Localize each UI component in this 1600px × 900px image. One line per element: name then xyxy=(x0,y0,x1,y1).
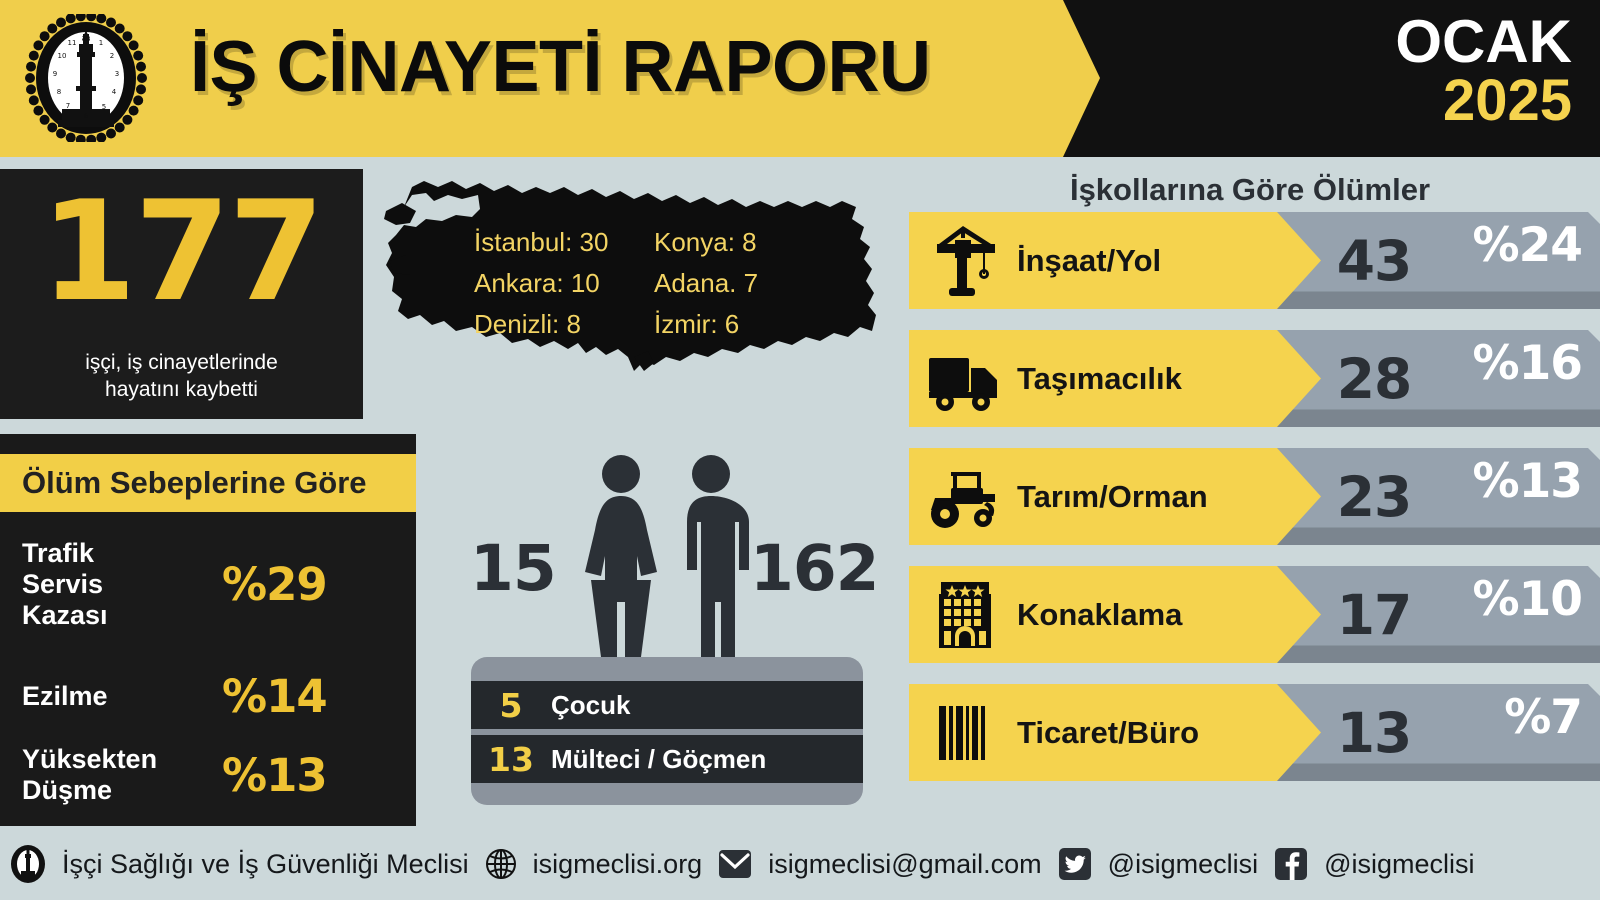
turkey-map-section: İstanbul: 30 Konya: 8 Ankara: 10 Adana. … xyxy=(382,165,882,380)
footer-facebook[interactable]: @isigmeclisi xyxy=(1272,845,1474,883)
sector-row: İnşaat/Yol 43 %24 xyxy=(909,212,1600,309)
svg-text:2: 2 xyxy=(110,52,114,60)
sub-stat-row: 13 Mülteci / Göçmen xyxy=(471,735,863,783)
svg-text:1: 1 xyxy=(99,39,103,47)
cause-label: Ezilme xyxy=(22,681,222,712)
sector-count: 23 xyxy=(1314,448,1434,545)
caption-line-1: işçi, iş cinayetlerinde xyxy=(85,351,278,374)
svg-text:12: 12 xyxy=(82,35,91,43)
city-death-list: İstanbul: 30 Konya: 8 Ankara: 10 Adana. … xyxy=(474,227,894,340)
cause-row: YüksektenDüşme %13 xyxy=(22,744,396,806)
sub-stat-label: Çocuk xyxy=(551,690,630,721)
sector-count: 28 xyxy=(1314,330,1434,427)
header-month: OCAK xyxy=(1395,12,1572,72)
footer-website[interactable]: isigmeclisi.org xyxy=(483,846,703,882)
hotel-icon xyxy=(925,576,1005,654)
sector-row: Taşımacılık 28 %16 xyxy=(909,330,1600,427)
footer-twitter[interactable]: @isigmeclisi xyxy=(1056,845,1258,883)
facebook-icon xyxy=(1272,845,1310,883)
svg-text:3: 3 xyxy=(115,70,119,78)
header: 121110 987 654 321 İŞ CİNAYETİ RAPORU OC… xyxy=(0,0,1600,157)
infographic-page: 121110 987 654 321 İŞ CİNAYETİ RAPORU OC… xyxy=(0,0,1600,900)
cause-label: YüksektenDüşme xyxy=(22,744,222,806)
barcode-icon xyxy=(925,694,1005,772)
sub-stat-label: Mülteci / Göçmen xyxy=(551,744,766,775)
sector-name: İnşaat/Yol xyxy=(1017,212,1161,309)
sectors-title: İşkollarına Göre Ölümler xyxy=(900,172,1600,208)
footer-twitter-label: @isigmeclisi xyxy=(1108,849,1258,880)
sector-count: 43 xyxy=(1314,212,1434,309)
sector-row: Ticaret/Büro 13 %7 xyxy=(909,684,1600,781)
total-deaths-card: 177 işçi, iş cinayetlerinde hayatını kay… xyxy=(0,169,363,419)
sector-percent: %24 xyxy=(1473,218,1583,273)
cause-row: Ezilme %14 xyxy=(22,670,396,723)
tractor-icon xyxy=(925,458,1005,536)
page-title: İŞ CİNAYETİ RAPORU xyxy=(190,26,930,108)
sector-row: Konaklama 17 %10 xyxy=(909,566,1600,663)
sector-percent: %10 xyxy=(1473,572,1583,627)
death-causes-card: Ölüm Sebeplerine Göre TrafikServisKazası… xyxy=(0,434,416,826)
total-deaths-value: 177 xyxy=(0,183,363,321)
twitter-icon xyxy=(1056,845,1094,883)
footer-org-label: İşçi Sağlığı ve İş Güvenliği Meclisi xyxy=(62,849,469,880)
footer: İşçi Sağlığı ve İş Güvenliği Meclisi is xyxy=(0,828,1600,900)
footer-email[interactable]: isigmeclisi@gmail.com xyxy=(716,845,1041,883)
sector-name: Ticaret/Büro xyxy=(1017,684,1199,781)
cause-percent: %14 xyxy=(222,670,327,723)
sub-stat-number: 13 xyxy=(471,740,551,779)
gender-breakdown: 15 162 xyxy=(450,440,890,690)
svg-text:11: 11 xyxy=(68,39,77,47)
city-item: Adana. 7 xyxy=(654,268,834,299)
footer-website-label: isigmeclisi.org xyxy=(533,849,703,880)
caption-line-2: hayatını kaybetti xyxy=(105,378,258,401)
cause-percent: %13 xyxy=(222,749,327,802)
sub-stat-row: 5 Çocuk xyxy=(471,681,863,729)
truck-icon xyxy=(925,340,1005,418)
footer-facebook-label: @isigmeclisi xyxy=(1324,849,1474,880)
city-item: Denizli: 8 xyxy=(474,309,654,340)
city-item: İstanbul: 30 xyxy=(474,227,654,258)
envelope-icon xyxy=(716,845,754,883)
svg-text:8: 8 xyxy=(57,88,61,96)
svg-text:5: 5 xyxy=(102,103,106,111)
footer-email-label: isigmeclisi@gmail.com xyxy=(768,849,1041,880)
gender-figures-icon xyxy=(575,452,775,667)
sector-name: Taşımacılık xyxy=(1017,330,1182,427)
woman-figure-icon xyxy=(585,455,657,657)
crane-icon xyxy=(925,222,1005,300)
cause-label: TrafikServisKazası xyxy=(22,538,222,631)
cause-percent: %29 xyxy=(222,558,327,611)
sector-percent: %13 xyxy=(1473,454,1583,509)
globe-icon xyxy=(483,846,519,882)
sector-name: Tarım/Orman xyxy=(1017,448,1208,545)
vulnerable-groups-panel: 5 Çocuk 13 Mülteci / Göçmen xyxy=(471,657,863,805)
svg-text:7: 7 xyxy=(66,102,70,110)
isig-clock-tower-logo-icon: 121110 987 654 321 xyxy=(22,14,150,142)
isig-logo-icon xyxy=(8,843,48,885)
sector-name: Konaklama xyxy=(1017,566,1182,663)
sector-count: 13 xyxy=(1314,684,1434,781)
total-deaths-caption: işçi, iş cinayetlerinde hayatını kaybett… xyxy=(0,349,363,404)
header-year: 2025 xyxy=(1443,72,1572,130)
sector-count: 17 xyxy=(1314,566,1434,663)
female-count: 15 xyxy=(470,532,556,605)
sub-stat-number: 5 xyxy=(471,686,551,725)
sector-percent: %7 xyxy=(1504,690,1582,745)
man-figure-icon xyxy=(687,455,749,657)
svg-text:4: 4 xyxy=(112,88,117,96)
svg-text:9: 9 xyxy=(53,70,57,78)
death-causes-title: Ölüm Sebeplerine Göre xyxy=(22,465,367,501)
cause-row: TrafikServisKazası %29 xyxy=(22,538,396,631)
city-item: Ankara: 10 xyxy=(474,268,654,299)
city-item: Konya: 8 xyxy=(654,227,834,258)
footer-org: İşçi Sağlığı ve İş Güvenliği Meclisi xyxy=(8,843,469,885)
death-causes-header: Ölüm Sebeplerine Göre xyxy=(0,454,416,512)
city-item: İzmir: 6 xyxy=(654,309,834,340)
sector-row: Tarım/Orman 23 %13 xyxy=(909,448,1600,545)
sector-percent: %16 xyxy=(1473,336,1583,391)
svg-text:6: 6 xyxy=(84,112,89,120)
svg-text:10: 10 xyxy=(58,52,67,60)
